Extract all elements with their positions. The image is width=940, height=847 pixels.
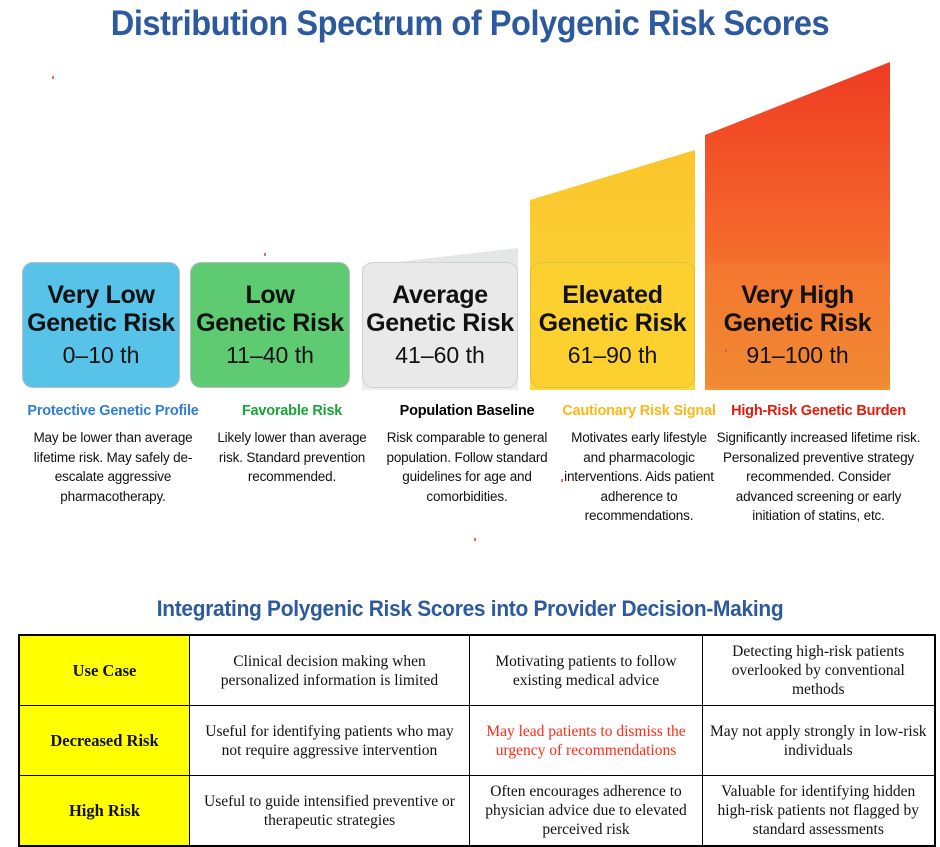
risk-box-very-high[interactable]: Very High Genetic Risk 91–100 th — [705, 262, 890, 388]
table-cell: May not apply strongly in low-risk indiv… — [703, 706, 935, 776]
table-cell: Useful to guide intensified preventive o… — [190, 776, 470, 847]
artifact-speck — [561, 479, 563, 482]
table-cell: Motivating patients to follow existing m… — [470, 635, 703, 706]
risk-caption-average: Population Baseline Risk comparable to g… — [372, 402, 562, 506]
table-cell: Clinical decision making when personaliz… — [190, 635, 470, 706]
table-row-label: Use Case — [19, 635, 190, 706]
risk-box-percentile: 91–100 th — [746, 340, 848, 370]
risk-box-title-line1: Low — [245, 281, 294, 309]
table-cell-warning: May lead patients to dismiss the urgency… — [470, 706, 703, 776]
risk-caption-row: Protective Genetic Profile May be lower … — [0, 402, 940, 572]
decision-table-wrap: Use Case Clinical decision making when p… — [18, 634, 920, 847]
page-title: Distribution Spectrum of Polygenic Risk … — [33, 4, 907, 44]
caption-heading: High-Risk Genetic Burden — [716, 402, 921, 420]
infographic-page: Distribution Spectrum of Polygenic Risk … — [0, 0, 940, 810]
risk-box-title-line2: Genetic Risk — [724, 309, 872, 337]
table-row-label: Decreased Risk — [19, 706, 190, 776]
table-row: Use Case Clinical decision making when p… — [19, 635, 935, 706]
risk-box-average[interactable]: Average Genetic Risk 41–60 th — [362, 262, 518, 388]
table-row-label: High Risk — [19, 776, 190, 847]
table-row: Decreased Risk Useful for identifying pa… — [19, 706, 935, 776]
table-cell: Valuable for identifying hidden high-ris… — [703, 776, 935, 847]
risk-caption-low: Favorable Risk Likely lower than average… — [208, 402, 376, 487]
caption-heading: Cautionary Risk Signal — [560, 402, 718, 420]
risk-box-very-low[interactable]: Very Low Genetic Risk 0–10 th — [22, 262, 180, 388]
risk-box-title-line2: Genetic Risk — [539, 309, 687, 337]
risk-box-row: Very Low Genetic Risk 0–10 th Low Geneti… — [0, 262, 940, 390]
artifact-speck — [52, 76, 54, 79]
caption-body: Motivates early lifestyle and pharmacolo… — [560, 428, 718, 526]
table-section-title: Integrating Polygenic Risk Scores into P… — [24, 596, 917, 622]
risk-box-low[interactable]: Low Genetic Risk 11–40 th — [190, 262, 350, 388]
risk-box-percentile: 0–10 th — [63, 340, 140, 370]
caption-heading: Population Baseline — [372, 402, 562, 420]
table-cell: Often encourages adherence to physician … — [470, 776, 703, 847]
risk-box-title-line1: Very High — [741, 281, 854, 309]
caption-body: Risk comparable to general population. F… — [372, 428, 562, 506]
risk-box-percentile: 41–60 th — [395, 340, 485, 370]
table-cell: Detecting high-risk patients overlooked … — [703, 635, 935, 706]
risk-box-title-line1: Average — [392, 281, 488, 309]
risk-box-title-line2: Genetic Risk — [196, 309, 344, 337]
caption-body: Significantly increased lifetime risk. P… — [716, 428, 921, 526]
risk-box-percentile: 11–40 th — [226, 340, 314, 370]
risk-box-percentile: 61–90 th — [568, 340, 658, 370]
caption-heading: Protective Genetic Profile — [18, 402, 208, 420]
risk-box-title-line1: Very Low — [47, 281, 154, 309]
caption-heading: Favorable Risk — [208, 402, 376, 420]
decision-table: Use Case Clinical decision making when p… — [18, 634, 936, 847]
caption-body: May be lower than average lifetime risk.… — [18, 428, 208, 506]
risk-box-title-line2: Genetic Risk — [27, 309, 175, 337]
artifact-speck — [264, 253, 266, 256]
artifact-speck — [725, 349, 727, 352]
risk-caption-very-low: Protective Genetic Profile May be lower … — [18, 402, 208, 506]
risk-caption-very-high: High-Risk Genetic Burden Significantly i… — [716, 402, 921, 526]
table-row: High Risk Useful to guide intensified pr… — [19, 776, 935, 847]
risk-caption-elevated: Cautionary Risk Signal Motivates early l… — [560, 402, 718, 526]
table-cell: Useful for identifying patients who may … — [190, 706, 470, 776]
risk-box-elevated[interactable]: Elevated Genetic Risk 61–90 th — [530, 262, 695, 388]
artifact-speck — [474, 538, 476, 541]
risk-box-title-line1: Elevated — [562, 281, 662, 309]
caption-body: Likely lower than average risk. Standard… — [208, 428, 376, 487]
risk-box-title-line2: Genetic Risk — [366, 309, 514, 337]
